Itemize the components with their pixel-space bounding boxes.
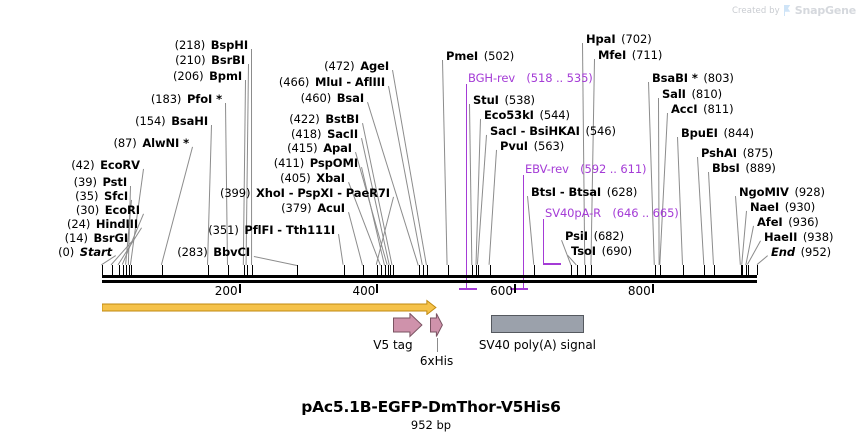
restriction-site-label: (218) BspHI — [175, 39, 248, 51]
site-enzyme-name: BsrBI — [211, 53, 245, 67]
site-enzyme-name: End — [771, 245, 795, 259]
site-enzyme-name: BspHI — [211, 38, 248, 52]
axis-tick-mark — [514, 284, 516, 293]
cut-site-tick — [742, 265, 743, 275]
site-position: (936) — [788, 215, 818, 229]
snapgene-flag-icon — [784, 5, 791, 16]
site-position: (844) — [723, 126, 753, 140]
restriction-site-label: (24) HindIII — [67, 218, 138, 230]
restriction-site-label: (30) EcoRI — [76, 204, 140, 216]
primer-range: (646 .. 665) — [612, 206, 678, 220]
site-position: (472) — [324, 59, 354, 73]
cut-site-tick — [208, 265, 209, 275]
site-position: (711) — [632, 48, 662, 62]
cut-site-tick — [129, 265, 130, 275]
site-enzyme-name: HpaI — [586, 32, 616, 46]
axis-tick-label: 400 — [347, 284, 375, 298]
cut-site-tick — [427, 265, 428, 275]
watermark-created-by-label: Created by — [732, 6, 780, 16]
restriction-site-label: NaeI (930) — [750, 201, 815, 213]
cut-site-tick — [126, 265, 127, 275]
restriction-site-label: (42) EcoRV — [71, 159, 140, 171]
cut-site-tick — [123, 265, 124, 275]
site-enzyme-name: BtsI - BtsaI — [531, 185, 601, 199]
cut-site-tick — [704, 265, 705, 275]
site-position: (875) — [743, 146, 773, 160]
site-enzyme-name: PflFI - Tth111I — [244, 223, 335, 237]
site-enzyme-name: BsaHI — [171, 114, 208, 128]
site-enzyme-name: SfcI — [104, 189, 128, 203]
site-position: (183) — [151, 92, 181, 106]
restriction-site-label: SalI (810) — [662, 88, 722, 100]
site-position: (154) — [135, 114, 165, 128]
site-position: (87) — [113, 136, 136, 150]
site-position: (14) — [65, 231, 88, 245]
site-enzyme-name: Start — [80, 245, 112, 259]
restriction-site-label: (351) PflFI - Tth111I — [208, 224, 335, 236]
site-position: (206) — [173, 69, 203, 83]
site-enzyme-name: Eco53kI — [484, 108, 534, 122]
primer-connector — [543, 219, 544, 263]
site-position: (690) — [602, 244, 632, 258]
restriction-site-label: MfeI (711) — [598, 49, 662, 61]
site-position: (418) — [291, 127, 321, 141]
restriction-site-label: (472) AgeI — [324, 60, 389, 72]
primer-connector — [523, 175, 524, 288]
primer-range: (592 .. 611) — [580, 162, 646, 176]
site-position: (563) — [534, 139, 564, 153]
site-position: (544) — [539, 108, 569, 122]
site-position: (210) — [175, 53, 205, 67]
backbone-lower-bar — [102, 280, 757, 283]
site-enzyme-name: BsaI — [337, 91, 364, 105]
site-position: (399) — [220, 186, 250, 200]
site-enzyme-name: BsaBI * — [652, 71, 698, 85]
restriction-site-label: (411) PspOMI — [274, 157, 358, 169]
site-enzyme-name: AgeI — [360, 59, 389, 73]
feature-label-sv40-polya: SV40 poly(A) signal — [447, 338, 627, 352]
restriction-site-label: PmeI (502) — [446, 50, 514, 62]
cut-site-tick — [757, 265, 758, 275]
cut-site-tick — [363, 265, 364, 275]
site-enzyme-name: BbsI — [712, 161, 740, 175]
cut-site-tick — [748, 265, 749, 275]
plasmid-title-block: pAc5.1B-EGFP-DmThor-V5His6 952 bp — [0, 398, 862, 432]
cut-site-tick — [390, 265, 391, 275]
cut-site-tick — [162, 265, 163, 275]
cut-site-tick — [534, 265, 535, 275]
site-enzyme-name: XhoI - PspXI - PaeR7I — [256, 186, 390, 200]
site-position: (502) — [484, 49, 514, 63]
restriction-site-label: (405) XbaI — [280, 172, 345, 184]
cut-site-tick — [344, 265, 345, 275]
site-enzyme-name: EcoRV — [100, 158, 140, 172]
site-enzyme-name: PsiI — [565, 229, 588, 243]
site-enzyme-name: BpmI — [209, 69, 242, 83]
axis-tick-mark — [376, 284, 378, 293]
cut-site-tick — [247, 265, 248, 275]
site-enzyme-name: AlwNI * — [142, 136, 189, 150]
restriction-site-label: (0) Start — [58, 246, 112, 258]
restriction-site-label: (87) AlwNI * — [113, 137, 189, 149]
site-enzyme-name: EcoRI — [105, 203, 140, 217]
site-enzyme-name: TsoI — [571, 244, 596, 258]
orf-arrow — [102, 299, 438, 315]
restriction-site-label: BbsI (889) — [712, 162, 776, 174]
restriction-site-label: NgoMIV (928) — [739, 186, 825, 198]
site-position: (24) — [67, 217, 90, 231]
cut-site-tick — [472, 265, 473, 275]
site-enzyme-name: MluI - AflIII — [315, 75, 385, 89]
restriction-site-label: (422) BstBI — [289, 113, 359, 125]
primer-name: SV40pA-R — [545, 206, 601, 220]
site-enzyme-name: StuI — [473, 93, 499, 107]
restriction-site-label: End (952) — [771, 246, 831, 258]
primer-label: EBV-rev (592 .. 611) — [525, 163, 646, 175]
primer-label: BGH-rev (518 .. 535) — [468, 72, 593, 84]
site-position: (928) — [794, 185, 824, 199]
site-enzyme-name: XbaI — [316, 171, 345, 185]
site-position: (411) — [274, 156, 304, 170]
axis-tick-mark — [652, 284, 654, 293]
restriction-site-label: Eco53kI (544) — [484, 109, 570, 121]
feature-6xhis-connector — [437, 338, 438, 352]
restriction-site-label: (379) AcuI — [281, 202, 345, 214]
restriction-site-label: (14) BsrGI — [65, 232, 128, 244]
cut-site-tick — [660, 265, 661, 275]
primer-range: (518 .. 535) — [526, 71, 592, 85]
site-enzyme-name: HindIII — [96, 217, 138, 231]
restriction-site-label: (206) BpmI — [173, 70, 242, 82]
site-position: (0) — [58, 245, 74, 259]
restriction-site-label: (399) XhoI - PspXI - PaeR7I — [220, 187, 390, 199]
primer-range-bar — [543, 263, 561, 265]
site-position: (702) — [621, 32, 651, 46]
primer-name: EBV-rev — [525, 162, 569, 176]
site-position: (938) — [803, 230, 833, 244]
site-position: (460) — [301, 91, 331, 105]
site-position: (538) — [505, 93, 535, 107]
site-enzyme-name: PstI — [103, 175, 127, 189]
restriction-site-label: PvuI (563) — [500, 140, 564, 152]
site-position: (682) — [594, 229, 624, 243]
axis-tick-mark — [239, 284, 241, 293]
cut-site-tick — [252, 265, 253, 275]
cut-site-tick — [393, 265, 394, 275]
site-enzyme-name: SalI — [662, 87, 686, 101]
backbone-upper-rule — [102, 275, 757, 278]
restriction-site-label: BtsI - BtsaI (628) — [531, 186, 637, 198]
site-enzyme-name: ApaI — [323, 141, 352, 155]
site-position: (351) — [208, 223, 238, 237]
primer-label: SV40pA-R (646 .. 665) — [545, 207, 679, 219]
restriction-site-label: PshAI (875) — [701, 147, 773, 159]
site-enzyme-name: AfeI — [757, 215, 783, 229]
site-enzyme-name: HaeII — [764, 230, 797, 244]
restriction-site-label: HpaI (702) — [586, 33, 652, 45]
site-enzyme-name: SacII — [327, 127, 358, 141]
cut-site-tick — [377, 265, 378, 275]
site-enzyme-name: PmeI — [446, 49, 478, 63]
site-enzyme-name: NgoMIV — [739, 185, 789, 199]
restriction-site-label: (283) BbvCI — [177, 246, 250, 258]
restriction-site-label: BpuEI (844) — [681, 127, 754, 139]
site-position: (283) — [177, 245, 207, 259]
site-position: (803) — [703, 71, 733, 85]
site-enzyme-name: AcuI — [317, 201, 345, 215]
cut-site-tick — [228, 265, 229, 275]
restriction-site-label: (183) PfoI * — [151, 93, 222, 105]
restriction-site-label: SacI - BsiHKAI (546) — [490, 125, 616, 137]
feature-v5-tag — [393, 313, 424, 339]
restriction-site-label: StuI (538) — [473, 94, 535, 106]
cut-site-tick — [577, 265, 578, 275]
cut-site-tick — [112, 265, 113, 275]
site-enzyme-name: MfeI — [598, 48, 626, 62]
cut-site-tick — [683, 265, 684, 275]
cut-site-tick — [131, 265, 132, 275]
site-position: (930) — [785, 200, 815, 214]
cut-site-tick — [419, 265, 420, 275]
snapgene-watermark: Created by SnapGene — [732, 4, 856, 17]
restriction-site-label: HaeII (938) — [764, 231, 833, 243]
cut-site-tick — [591, 265, 592, 275]
restriction-site-label: PsiI (682) — [565, 230, 624, 242]
site-enzyme-name: BpuEI — [681, 126, 718, 140]
site-position: (415) — [287, 141, 317, 155]
site-enzyme-name: NaeI — [750, 200, 779, 214]
cut-site-tick — [478, 265, 479, 275]
restriction-site-label: AfeI (936) — [757, 216, 819, 228]
site-position: (628) — [607, 185, 637, 199]
site-enzyme-name: BsrGI — [94, 231, 129, 245]
site-position: (39) — [74, 175, 97, 189]
site-position: (811) — [703, 102, 733, 116]
cut-site-tick — [585, 265, 586, 275]
site-position: (35) — [75, 189, 98, 203]
site-enzyme-name: AccI — [671, 102, 697, 116]
watermark-brand-label: SnapGene — [795, 4, 856, 17]
site-enzyme-name: BbvCI — [213, 245, 250, 259]
primer-connector — [466, 84, 467, 288]
restriction-site-label: (210) BsrBI — [175, 54, 245, 66]
restriction-site-label: (460) BsaI — [301, 92, 364, 104]
restriction-site-label: (39) PstI — [74, 176, 127, 188]
site-position: (405) — [280, 171, 310, 185]
primer-name: BGH-rev — [468, 71, 515, 85]
site-position: (889) — [745, 161, 775, 175]
cut-site-tick — [102, 265, 103, 275]
feature-sv40-polya — [491, 315, 584, 333]
site-enzyme-name: PshAI — [701, 146, 737, 160]
feature-label-6xhis: 6xHis — [347, 354, 527, 368]
plasmid-name: pAc5.1B-EGFP-DmThor-V5His6 — [0, 398, 862, 416]
restriction-site-label: (35) SfcI — [75, 190, 128, 202]
primer-range-bar — [459, 288, 477, 290]
axis-tick-label: 800 — [623, 284, 651, 298]
axis-tick-label: 600 — [485, 284, 513, 298]
cut-site-tick — [423, 265, 424, 275]
cut-site-tick — [571, 265, 572, 275]
cut-site-tick — [297, 265, 298, 275]
restriction-site-label: (154) BsaHI — [135, 115, 208, 127]
cut-site-tick — [244, 265, 245, 275]
site-position: (810) — [692, 87, 722, 101]
cut-site-tick — [381, 265, 382, 275]
site-enzyme-name: SacI - BsiHKAI — [490, 124, 580, 138]
site-position: (952) — [801, 245, 831, 259]
cut-site-tick — [388, 265, 389, 275]
site-position: (30) — [76, 203, 99, 217]
restriction-site-label: TsoI (690) — [571, 245, 632, 257]
feature-6xhis — [430, 313, 444, 339]
restriction-site-label: (418) SacII — [291, 128, 358, 140]
restriction-site-label: (466) MluI - AflIII — [279, 76, 385, 88]
cut-site-tick — [490, 265, 491, 275]
axis-tick-label: 200 — [210, 284, 238, 298]
site-position: (422) — [289, 112, 319, 126]
site-enzyme-name: BstBI — [325, 112, 359, 126]
cut-site-tick — [119, 265, 120, 275]
cut-site-tick — [385, 265, 386, 275]
site-enzyme-name: PfoI * — [187, 92, 222, 106]
site-enzyme-name: PvuI — [500, 139, 528, 153]
site-position: (546) — [585, 124, 615, 138]
plasmid-size: 952 bp — [0, 418, 862, 432]
site-position: (379) — [281, 201, 311, 215]
restriction-site-label: BsaBI * (803) — [652, 72, 734, 84]
site-position: (218) — [175, 38, 205, 52]
restriction-site-label: (415) ApaI — [287, 142, 352, 154]
site-enzyme-name: PspOMI — [310, 156, 358, 170]
site-position: (42) — [71, 158, 94, 172]
site-position: (466) — [279, 75, 309, 89]
cut-site-tick — [655, 265, 656, 275]
restriction-site-label: AccI (811) — [671, 103, 734, 115]
cut-site-tick — [448, 265, 449, 275]
cut-site-tick — [714, 265, 715, 275]
